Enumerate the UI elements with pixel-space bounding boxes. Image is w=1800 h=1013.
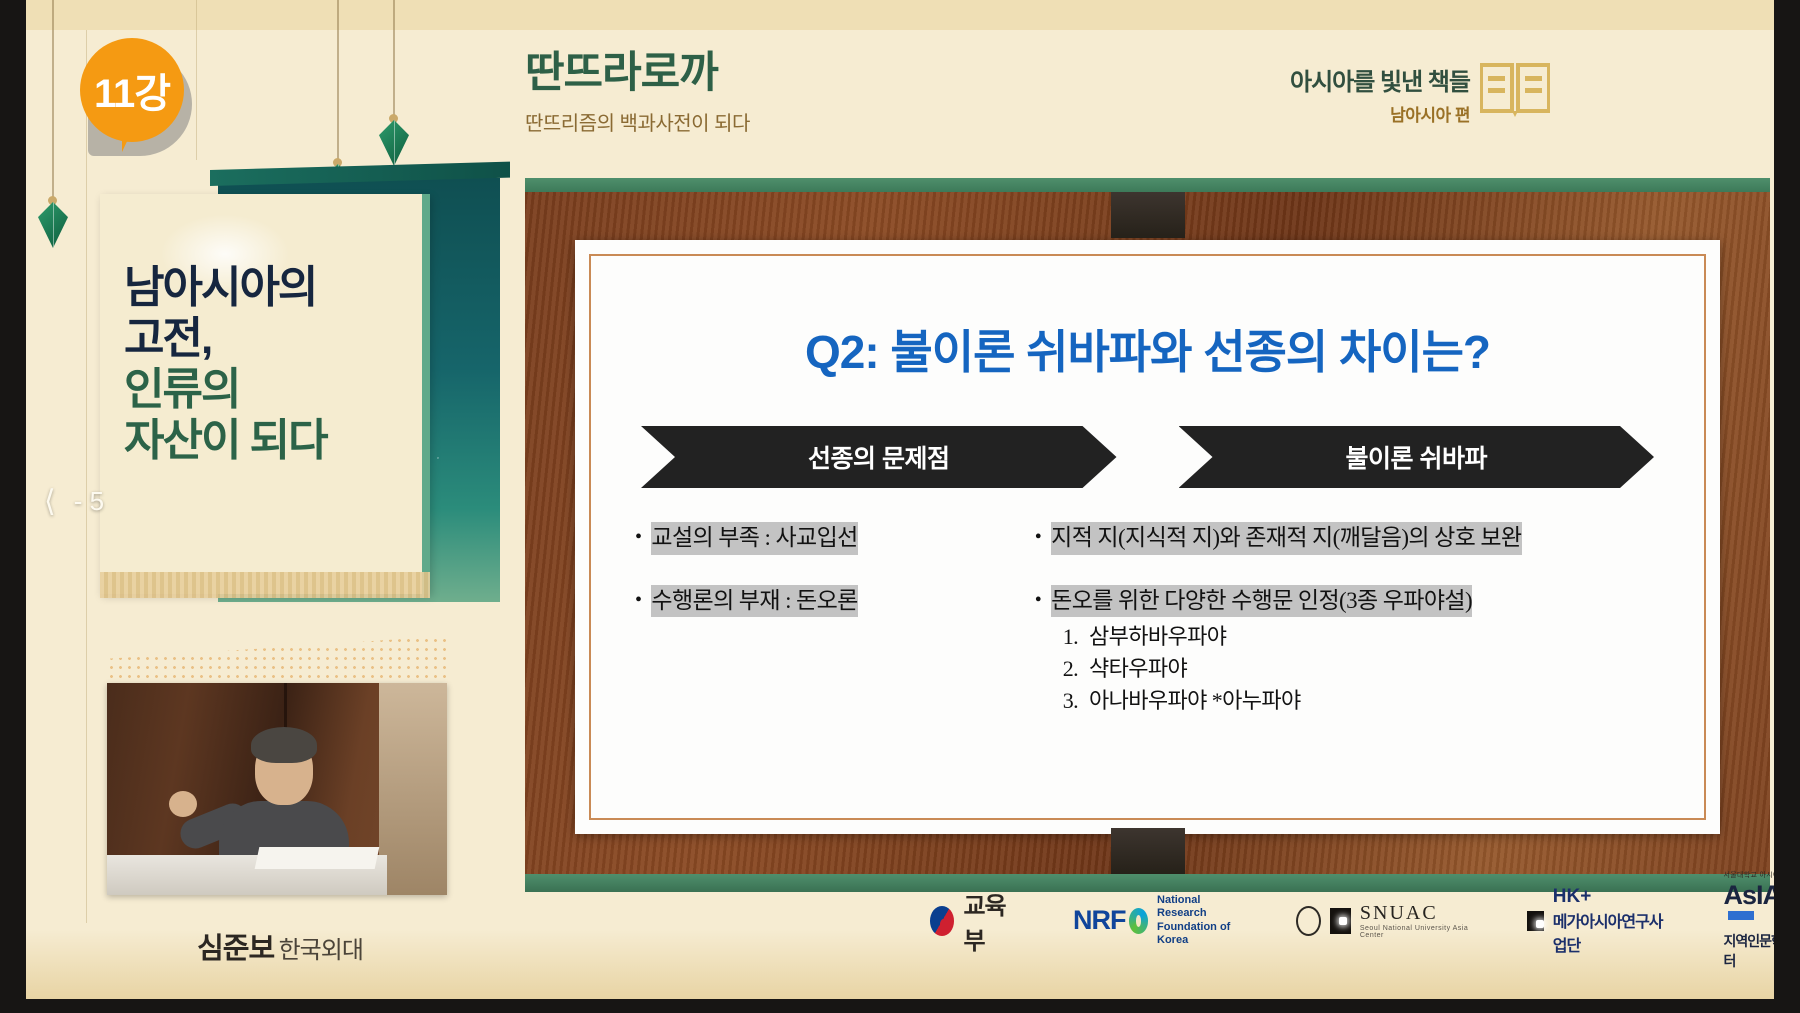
bullet-item: • 돈오를 위한 다양한 수행문 인정(3종 우파야설) xyxy=(1035,585,1660,618)
series-brand-line1: 아시아를 빛낸 책들 xyxy=(1290,62,1470,97)
open-book-icon xyxy=(1480,62,1550,118)
asia-bar-icon xyxy=(1728,911,1754,920)
header-title-group: 딴뜨라로까 딴뜨리즘의 백과사전이 되다 xyxy=(525,50,750,136)
slide-canvas: Q2: 불이론 쉬바파와 선종의 차이는? 선종의 문제점 불이론 쉬바파 • … xyxy=(575,240,1720,834)
cover-card: 남아시아의 고전, 인류의 자산이 되다 xyxy=(100,194,430,594)
taegeuk-icon xyxy=(930,906,954,936)
slide-title: Q2: 불이론 쉬바파와 선종의 차이는? xyxy=(627,316,1668,382)
hanging-string xyxy=(52,0,54,200)
lecture-badge-label: 11강 xyxy=(94,61,170,119)
bullet-item: • 교설의 부족 : 사교입선 xyxy=(635,522,1027,555)
logo-moe-label: 교육부 xyxy=(963,886,1015,956)
decorative-rule xyxy=(196,0,197,160)
board-clip-bottom xyxy=(1111,828,1185,874)
logo-hk-text: HK+ 메가아시아연구사업단 xyxy=(1553,886,1666,956)
logo-snuac-text: SNUAC Seoul National University Asia Cen… xyxy=(1360,902,1469,939)
bullet-text: 지적 지(지식적 지)와 존재적 지(깨달음)의 상호 보완 xyxy=(1051,522,1521,555)
slide-page-label: - 5 xyxy=(74,486,104,517)
cover-bottom-pattern xyxy=(100,572,430,598)
speaker-credit: 심준보 한국외대 xyxy=(0,925,560,967)
hanging-string xyxy=(337,0,339,160)
speaker-hand xyxy=(169,791,197,817)
speaker-affiliation: 한국외대 xyxy=(279,937,363,964)
snu-seal-icon xyxy=(1296,906,1321,936)
bullet-dot-icon: • xyxy=(1035,522,1041,552)
bullet-item: • 수행론의 부재 : 돈오론 xyxy=(635,585,1027,618)
slide-board: Q2: 불이론 쉬바파와 선종의 차이는? 선종의 문제점 불이론 쉬바파 • … xyxy=(525,178,1770,892)
cover-title-line3: 인류의 xyxy=(124,364,410,415)
program-title: 딴뜨라로까 xyxy=(525,50,750,97)
bullet-item: • 지적 지(지식적 지)와 존재적 지(깨달음)의 상호 보완 xyxy=(1035,522,1660,555)
list-number: 2. xyxy=(1063,656,1078,681)
speaker-hair xyxy=(251,727,317,763)
series-brand: 아시아를 빛낸 책들 남아시아 편 xyxy=(1290,62,1470,126)
board-clip-top xyxy=(1111,192,1185,238)
list-text: 삼부하바우파야 xyxy=(1089,624,1226,649)
bullet-text: 돈오를 위한 다양한 수행문 인정(3종 우파야설) xyxy=(1051,585,1472,618)
chevron-left-icon[interactable]: ⟨ xyxy=(44,487,56,517)
video-wall-panel xyxy=(379,683,447,895)
series-brand-line2: 남아시아 편 xyxy=(1290,101,1470,126)
banner-right: 불이론 쉬바파 xyxy=(1179,426,1655,488)
slide-column-right: • 지적 지(지식적 지)와 존재적 지(깨달음)의 상호 보완 • 돈오를 위… xyxy=(1035,522,1660,716)
bullet-text: 교설의 부족 : 사교입선 xyxy=(651,522,857,555)
logo-nrf-mark: NRF xyxy=(1073,905,1126,936)
slide-column-left: • 교설의 부족 : 사교입선 • 수행론의 부재 : 돈오론 xyxy=(635,522,1035,716)
banner-right-label: 불이론 쉬바파 xyxy=(1346,439,1487,475)
slide-inner-border: Q2: 불이론 쉬바파와 선종의 차이는? 선종의 문제점 불이론 쉬바파 • … xyxy=(589,254,1706,820)
cover-title-line2: 고전, xyxy=(124,313,410,364)
logo-asia-main: AsIA xyxy=(1724,880,1782,910)
decorative-rule xyxy=(86,30,87,923)
logo-snuac-mark: SNUAC xyxy=(1360,902,1469,925)
numbered-list-item: 1. 삼부하바우파야 xyxy=(1063,621,1660,653)
letterbox-bottom xyxy=(0,999,1800,1013)
logo-snuac-sub: Seoul National University Asia Center xyxy=(1360,925,1469,939)
logo-hk-kor: 메가아시아연구사업단 xyxy=(1553,908,1666,956)
numbered-list-item: 2. 샥타우파야 xyxy=(1063,653,1660,685)
list-text: 아나바우파야 *아누파야 xyxy=(1089,688,1301,713)
banner-left-label: 선종의 문제점 xyxy=(808,439,949,475)
nrf-swoosh-icon xyxy=(1129,908,1149,934)
banner-left: 선종의 문제점 xyxy=(641,426,1117,488)
letterbox-right xyxy=(1774,0,1800,1013)
bullet-dot-icon: • xyxy=(635,585,641,615)
program-subtitle: 딴뜨리즘의 백과사전이 되다 xyxy=(525,107,750,136)
hanging-string xyxy=(393,0,395,118)
letterbox-left xyxy=(0,0,26,1013)
list-number: 1. xyxy=(1063,624,1078,649)
logo-hk: HK+ 메가아시아연구사업단 xyxy=(1527,886,1665,956)
logo-hk-mark: HK+ xyxy=(1553,886,1666,908)
board-top-trim xyxy=(525,178,1770,192)
numbered-list-item: 3. 아나바우파야 *아누파야 xyxy=(1063,685,1660,717)
logo-nrf-text: National Research Foundation of Korea xyxy=(1157,894,1238,947)
cover-title-line4: 자산이 되다 xyxy=(124,415,410,466)
hk-block-icon xyxy=(1527,911,1543,931)
cover-title-line1: 남아시아의 xyxy=(124,262,410,313)
snuac-block-icon xyxy=(1330,908,1351,934)
speaker-papers xyxy=(255,847,380,869)
slide-nav-overlay[interactable]: ⟨ - 5 xyxy=(44,486,104,517)
logo-nrf-line2: Foundation of Korea xyxy=(1157,921,1238,947)
lecture-video-frame: 11강 딴뜨라로까 딴뜨리즘의 백과사전이 되다 아시아를 빛낸 책들 남아시아… xyxy=(0,0,1800,1013)
slide-banner-row: 선종의 문제점 불이론 쉬바파 xyxy=(627,426,1668,488)
slide-columns: • 교설의 부족 : 사교입선 • 수행론의 부재 : 돈오론 • 지적 지(지… xyxy=(627,522,1668,716)
speaker-name: 심준보 xyxy=(197,933,274,965)
list-text: 샥타우파야 xyxy=(1089,656,1187,681)
list-number: 3. xyxy=(1063,688,1078,713)
bullet-text: 수행론의 부재 : 돈오론 xyxy=(651,585,857,618)
logo-nrf-line1: National Research xyxy=(1157,894,1238,920)
logo-moe: 교육부 xyxy=(930,886,1015,956)
cover-title: 남아시아의 고전, 인류의 자산이 되다 xyxy=(124,262,410,466)
speaker-video-panel[interactable] xyxy=(107,683,447,895)
book-cover-illustration: 남아시아의 고전, 인류의 자산이 되다 xyxy=(100,170,500,610)
sponsor-logo-row: 교육부 NRF National Research Foundation of … xyxy=(930,870,1800,971)
logo-nrf: NRF National Research Foundation of Kore… xyxy=(1073,894,1238,947)
bullet-dot-icon: • xyxy=(635,522,641,552)
bullet-dot-icon: • xyxy=(1035,585,1041,615)
lecture-badge: 11강 xyxy=(80,38,184,142)
logo-snuac: SNUAC Seoul National University Asia Cen… xyxy=(1296,902,1470,939)
numbered-list: 1. 삼부하바우파야 2. 샥타우파야 3. 아나바우파야 *아누파야 xyxy=(1063,621,1660,716)
